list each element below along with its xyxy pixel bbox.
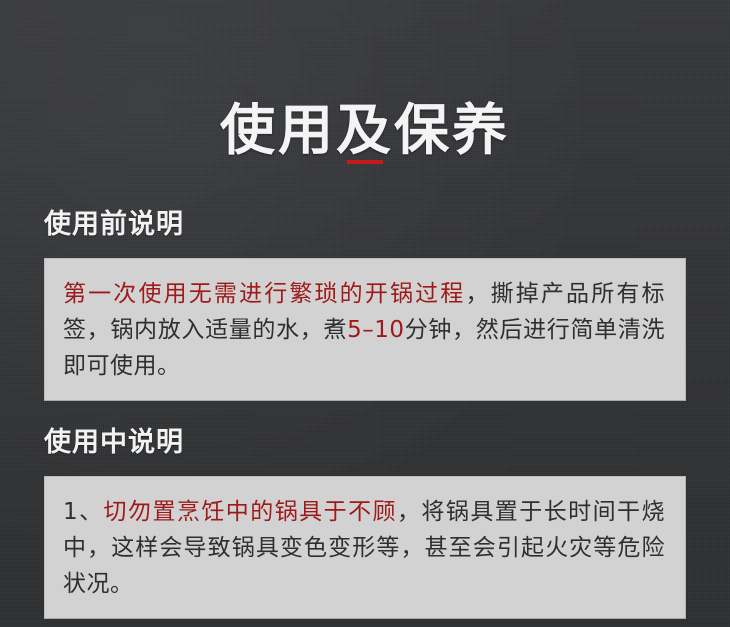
text-segment-1: 切勿置烹饪中的锅具于不顾 — [104, 499, 397, 525]
page-title: 使用及保养 — [0, 95, 730, 165]
section-pre-use: 使用前说明 第一次使用无需进行繁琐的开锅过程，撕掉产品所有标签，锅内放入适量的水… — [44, 208, 686, 401]
text-segment-0: 第一次使用无需进行繁琐的开锅过程 — [63, 281, 465, 307]
text-segment-0: 1、 — [63, 499, 104, 525]
section-heading-during-use: 使用中说明 — [44, 426, 686, 460]
section-during-use: 使用中说明 1、切勿置烹饪中的锅具于不顾，将锅具置于长时间干烧中，这样会导致锅具… — [44, 426, 686, 619]
info-text-pre-use: 第一次使用无需进行繁琐的开锅过程，撕掉产品所有标签，锅内放入适量的水，煮5–10… — [63, 276, 665, 384]
info-text-during-use: 1、切勿置烹饪中的锅具于不顾，将锅具置于长时间干烧中，这样会导致锅具变色变形等，… — [63, 494, 665, 602]
title-divider — [347, 160, 383, 164]
info-box-during-use: 1、切勿置烹饪中的锅具于不顾，将锅具置于长时间干烧中，这样会导致锅具变色变形等，… — [44, 476, 686, 619]
text-segment-2: 5–10 — [347, 317, 404, 343]
section-heading-pre-use: 使用前说明 — [44, 208, 686, 242]
product-care-page: 使用及保养 使用前说明 第一次使用无需进行繁琐的开锅过程，撕掉产品所有标签，锅内… — [0, 0, 730, 627]
info-box-pre-use: 第一次使用无需进行繁琐的开锅过程，撕掉产品所有标签，锅内放入适量的水，煮5–10… — [44, 258, 686, 401]
